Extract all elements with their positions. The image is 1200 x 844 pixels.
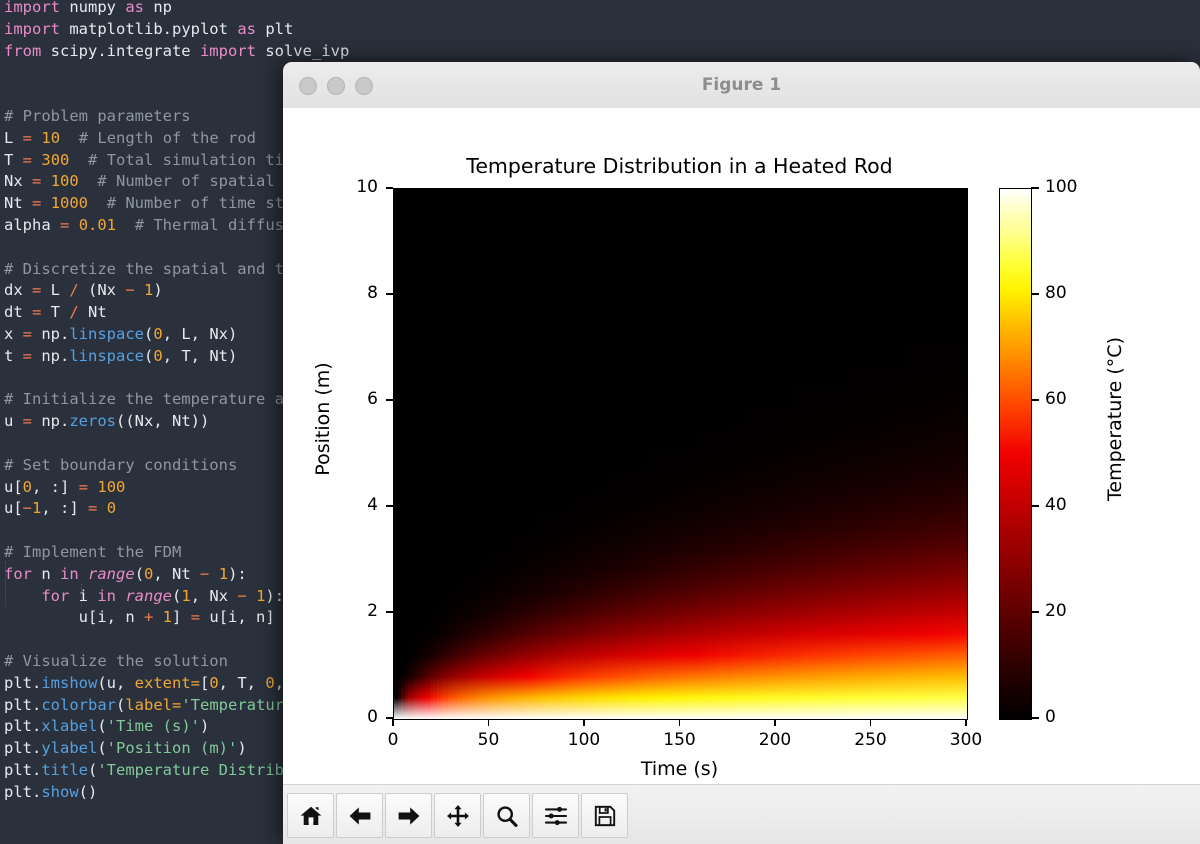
indent-guide (5, 584, 7, 606)
y-tick-label: 2 (323, 601, 378, 621)
x-tick-mark (679, 719, 681, 726)
home-icon (299, 804, 323, 828)
window-titlebar[interactable]: Figure 1 (283, 62, 1200, 109)
figure-canvas[interactable]: Temperature Distribution in a Heated Rod… (283, 108, 1200, 844)
toolbar-button-subplots[interactable] (532, 793, 579, 838)
colorbar-tick-mark (1031, 717, 1039, 719)
y-tick-mark (386, 399, 393, 401)
x-tick-mark (870, 719, 872, 726)
x-tick-mark (583, 719, 585, 726)
toolbar-button-save[interactable] (581, 793, 628, 838)
magnifier-icon (495, 804, 519, 828)
toolbar-button-home[interactable] (287, 793, 334, 838)
colorbar-tick-label: 80 (1045, 283, 1067, 303)
colorbar-tick-mark (1031, 611, 1039, 613)
x-tick-label: 250 (841, 730, 901, 750)
arrow-right-icon (397, 804, 421, 828)
colorbar-tick-mark (1031, 293, 1039, 295)
y-tick-mark (386, 187, 393, 189)
y-axis-label: Position (m) (312, 319, 334, 519)
y-tick-label: 0 (323, 707, 378, 727)
matplotlib-toolbar[interactable] (283, 784, 1200, 844)
code-line: import numpy as np (4, 0, 1200, 19)
code-line: import matplotlib.pyplot as plt (4, 19, 1200, 41)
x-tick-label: 300 (936, 730, 996, 750)
y-tick-label: 8 (323, 283, 378, 303)
heatmap-column (963, 189, 967, 719)
colorbar-tick-mark (1031, 505, 1039, 507)
y-tick-mark (386, 505, 393, 507)
y-tick-mark (386, 611, 393, 613)
x-axis-label: Time (s) (393, 758, 966, 780)
colorbar-tick-label: 100 (1045, 177, 1077, 197)
x-tick-label: 150 (650, 730, 710, 750)
x-tick-mark (965, 719, 967, 726)
chart-title: Temperature Distribution in a Heated Rod (393, 154, 966, 178)
code-line: from scipy.integrate import solve_ivp (4, 41, 1200, 63)
colorbar-tick-label: 40 (1045, 495, 1067, 515)
heatmap-plot-area[interactable] (393, 188, 968, 720)
x-tick-label: 50 (459, 730, 519, 750)
y-tick-mark (386, 293, 393, 295)
x-tick-mark (774, 719, 776, 726)
x-tick-label: 0 (363, 730, 423, 750)
indent-guide (81, 584, 83, 606)
colorbar-tick-mark (1031, 187, 1039, 189)
figure-window[interactable]: Figure 1 Temperature Distribution in a H… (283, 62, 1200, 844)
colorbar-label: Temperature (°C) (1104, 299, 1126, 539)
sliders-icon (544, 804, 568, 828)
arrow-left-icon (348, 804, 372, 828)
colorbar-tick-label: 60 (1045, 389, 1067, 409)
window-title: Figure 1 (283, 75, 1200, 95)
toolbar-button-pan[interactable] (434, 793, 481, 838)
toolbar-button-forward[interactable] (385, 793, 432, 838)
colorbar-tick-label: 20 (1045, 601, 1067, 621)
toolbar-button-back[interactable] (336, 793, 383, 838)
floppy-disk-icon (593, 804, 617, 828)
colorbar-tick-mark (1031, 399, 1039, 401)
toolbar-button-zoom[interactable] (483, 793, 530, 838)
colorbar (999, 188, 1032, 720)
x-tick-mark (392, 719, 394, 726)
x-tick-label: 100 (554, 730, 614, 750)
x-tick-mark (488, 719, 490, 726)
x-tick-label: 200 (745, 730, 805, 750)
move-icon (446, 804, 470, 828)
y-tick-label: 10 (323, 177, 378, 197)
colorbar-tick-label: 0 (1045, 707, 1056, 727)
